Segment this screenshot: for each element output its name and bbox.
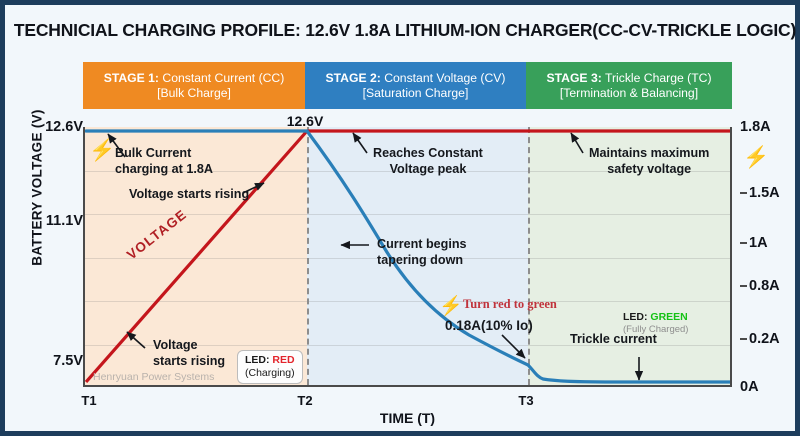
annotation-taper-value: 0.18A(10% Io) [445,318,533,333]
y-tick-right-4-text: 0.2A [749,331,780,347]
y-axis-left-ticks: 12.6V 11.1V 7.5V [5,5,83,441]
stage-2-header[interactable]: STAGE 2: Constant Voltage (CV) [Saturati… [305,62,526,109]
stage-1-mode: Constant Current (CC) [159,71,284,85]
stage-2-mode: Constant Voltage (CV) [381,71,506,85]
annotation-bulk-current: Bulk Current charging at 1.8A [115,146,213,177]
stage-3-name: STAGE 3: [546,71,601,85]
led-red-sub: (Charging) [245,367,295,380]
annotation-reaches-peak-line2: Voltage peak [373,162,483,178]
annotation-voltage-rising-top: Voltage starts rising [129,187,249,203]
bolt-icon: ⚡ [439,297,463,316]
stage-2-sub: [Saturation Charge] [363,86,469,101]
stage-3-sub: [Termination & Balancing] [560,86,698,101]
peak-voltage-label: 12.6V [287,113,324,129]
led-red-label: LED: [245,354,270,366]
led-red-badge: LED: RED (Charging) [237,350,303,384]
chart-frame: TECHNICIAL CHARGING PROFILE: 12.6V 1.8A … [0,0,800,436]
led-green-state: GREEN [650,311,687,323]
annotation-reaches-peak: Reaches Constant Voltage peak [373,146,483,177]
led-green-badge: LED: GREEN (Fully Charged) [623,311,688,336]
stage-1-header[interactable]: STAGE 1: Constant Current (CC) [Bulk Cha… [83,62,305,109]
annotation-tapering-line2: tapering down [377,253,467,269]
x-axis-label: TIME (T) [83,410,732,426]
tick-mark [740,242,747,244]
stage-1-name: STAGE 1: [104,71,159,85]
annotation-turn-red-to-green: Turn red to green [463,297,557,312]
page-title: TECHNICIAL CHARGING PROFILE: 12.6V 1.8A … [10,11,800,49]
y-tick-right-1-text: 1.5A [749,185,780,201]
led-red-state: RED [272,354,294,366]
tick-mark [740,192,747,194]
bolt-icon: ⚡ [89,140,115,161]
y-tick-right-3: 0.8A [740,278,780,294]
y-tick-right-0-text: 1.8A [740,119,771,135]
y-tick-left-2: 7.5V [9,353,83,369]
y-tick-right-3-text: 0.8A [749,278,780,294]
annotation-bulk-current-line2: charging at 1.8A [115,162,213,178]
x-tick-t1: T1 [81,393,96,408]
annotation-voltage-rising-bottom: Voltage starts rising [153,338,225,369]
stage-2-name: STAGE 2: [326,71,381,85]
tick-mark [740,338,747,340]
annotation-voltage-rising-bottom-line2: starts rising [153,354,225,370]
annotation-bulk-current-line1: Bulk Current [115,146,213,162]
y-tick-right-2: 1A [740,235,768,251]
annotation-reaches-peak-line1: Reaches Constant [373,146,483,162]
watermark: Henryuan Power Systems [93,371,214,383]
annotation-maintains-voltage-line1: Maintains maximum [589,146,709,162]
y-tick-right-5: 0A [740,379,759,395]
y-tick-right-0: 1.8A [740,119,771,135]
annotation-tapering: Current begins tapering down [377,237,467,268]
y-tick-left-0: 12.6V [9,119,83,135]
stage-1-sub: [Bulk Charge] [157,86,231,101]
stage-header-bar: STAGE 1: Constant Current (CC) [Bulk Cha… [83,62,732,109]
y-tick-left-1: 11.1V [9,213,83,229]
y-tick-right-4: 0.2A [740,331,780,347]
y-axis-right-ticks: 1.8A 1.5A 1A 0.8A 0.2A 0A [732,5,800,441]
tick-mark [740,285,747,287]
x-tick-t3: T3 [518,393,533,408]
annotation-voltage-rising-bottom-line1: Voltage [153,338,225,354]
y-tick-right-5-text: 0A [740,379,759,395]
annotation-maintains-voltage-line2: safety voltage [589,162,709,178]
y-tick-right-1: 1.5A [740,185,780,201]
y-tick-right-2-text: 1A [749,235,768,251]
annotation-maintains-voltage: Maintains maximum safety voltage [589,146,709,177]
led-green-sub: (Fully Charged) [623,324,688,336]
x-tick-t2: T2 [297,393,312,408]
led-green-label: LED: [623,311,648,323]
stage-3-mode: Trickle Charge (TC) [602,71,712,85]
annotation-tapering-line1: Current begins [377,237,467,253]
stage-3-header[interactable]: STAGE 3: Trickle Charge (TC) [Terminatio… [526,62,732,109]
